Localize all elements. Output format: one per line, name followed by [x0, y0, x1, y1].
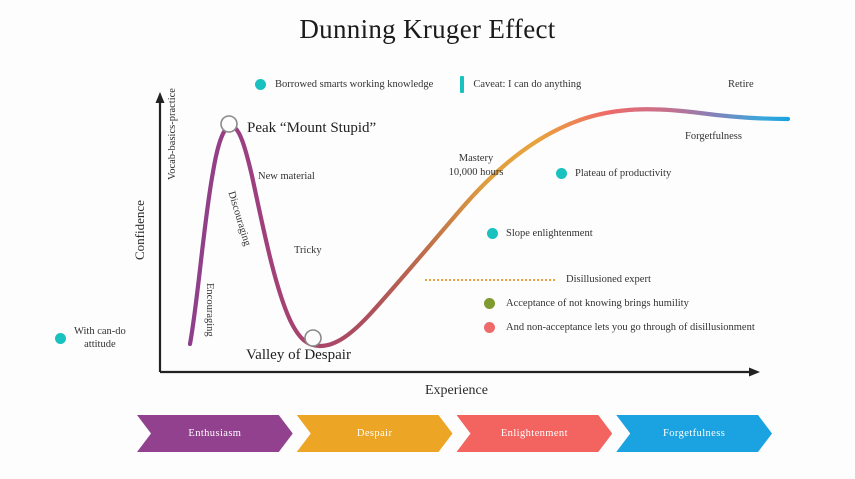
valley-marker-icon	[305, 330, 321, 346]
annotation-slope-label: Slope enlightenment	[506, 228, 593, 239]
label-mastery: Mastery 10,000 hours	[437, 152, 515, 180]
x-axis-label: Experience	[425, 383, 488, 399]
annotation-plateau-of-productivity: Plateau of productivity	[556, 168, 671, 179]
label-mastery-line1: Mastery	[459, 153, 493, 164]
legend-label-disillusioned-expert: Disillusioned expert	[566, 274, 651, 285]
banner-enlightenment[interactable]: Enlightenment	[457, 415, 613, 452]
banner-despair-label: Despair	[357, 428, 392, 439]
right-legend: Disillusioned expert Acceptance of not k…	[425, 274, 755, 333]
x-axis	[160, 368, 760, 377]
legend-row-disillusioned-expert: Disillusioned expert	[425, 274, 755, 285]
legend-label-non-acceptance: And non-acceptance lets you go through o…	[506, 322, 755, 333]
banner-enlightenment-label: Enlightenment	[501, 428, 568, 439]
label-peak-mount-stupid: Peak “Mount Stupid”	[247, 120, 376, 137]
label-valley-of-despair: Valley of Despair	[246, 347, 351, 364]
banner-enthusiasm[interactable]: Enthusiasm	[137, 415, 293, 452]
legend-row-non-acceptance: And non-acceptance lets you go through o…	[425, 322, 755, 333]
dot-icon	[487, 228, 498, 239]
legend-label-acceptance: Acceptance of not knowing brings humilit…	[506, 298, 689, 309]
label-mastery-line2: 10,000 hours	[449, 167, 504, 178]
banner-despair[interactable]: Despair	[297, 415, 453, 452]
label-retire: Retire	[728, 79, 754, 90]
dot-icon	[556, 168, 567, 179]
label-vocab-basics-practice: Vocab-basics-practice	[167, 88, 178, 180]
stage-banners: Enthusiasm Despair Enlightenment Forgetf…	[137, 415, 772, 452]
dot-icon	[484, 322, 495, 333]
banner-forgetfulness[interactable]: Forgetfulness	[616, 415, 772, 452]
slide-canvas: Dunning Kruger Effect Borrowed smarts wo…	[0, 0, 855, 479]
label-new-material: New material	[258, 171, 315, 182]
dunning-kruger-chart	[0, 0, 855, 479]
annotation-plateau-label: Plateau of productivity	[575, 168, 671, 179]
y-axis-label-text: Confidence	[132, 200, 147, 260]
y-axis	[156, 92, 165, 372]
label-encouraging: Encouraging	[204, 283, 215, 337]
label-forgetfulness: Forgetfulness	[685, 131, 742, 142]
label-tricky: Tricky	[294, 245, 322, 256]
banner-forgetfulness-label: Forgetfulness	[663, 428, 725, 439]
legend-row-acceptance: Acceptance of not knowing brings humilit…	[425, 298, 755, 309]
annotation-slope-enlightenment: Slope enlightenment	[487, 228, 593, 239]
y-axis-label: Confidence	[132, 200, 148, 260]
banner-enthusiasm-label: Enthusiasm	[188, 428, 241, 439]
peak-marker-icon	[221, 116, 237, 132]
dotted-line-icon	[425, 279, 555, 281]
x-axis-label-text: Experience	[425, 383, 488, 398]
dot-icon	[484, 298, 495, 309]
